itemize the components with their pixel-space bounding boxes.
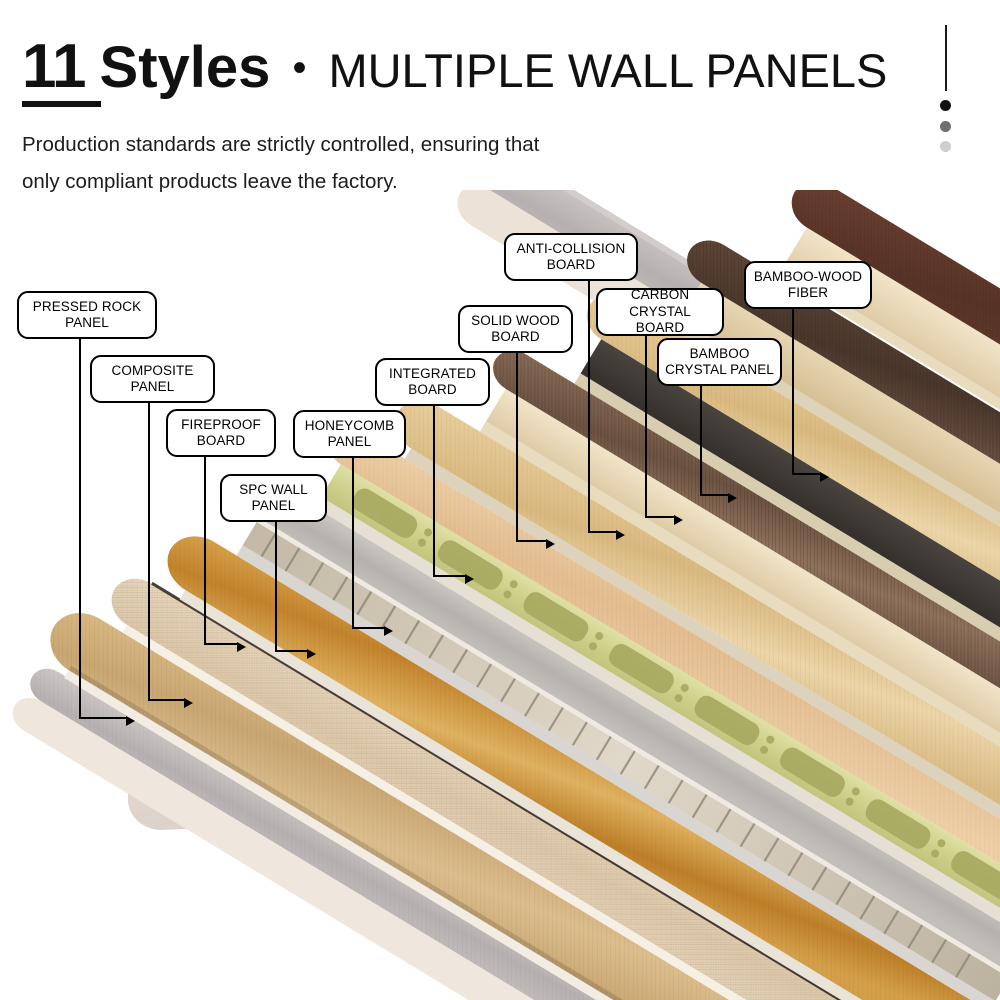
bullet-separator: • xyxy=(292,48,306,88)
arrow-bamboo-wood-fiber xyxy=(820,472,829,482)
callout-text: BAMBOO-WOOD FIBER xyxy=(754,269,862,302)
arrow-honeycomb xyxy=(384,626,393,636)
leader-bamboo-crystal-horizontal xyxy=(700,494,728,496)
header: 11 Styles • MULTIPLE WALL PANELS Product… xyxy=(0,0,1000,215)
leader-spc-vertical xyxy=(275,522,277,652)
leader-carbon-crystal-vertical xyxy=(645,336,647,518)
leader-fireproof-horizontal xyxy=(204,643,237,645)
leader-composite-vertical xyxy=(148,403,150,701)
arrow-integrated xyxy=(465,574,474,584)
callout-text: SPC WALL PANEL xyxy=(239,482,308,515)
arrow-spc xyxy=(307,649,316,659)
callout-composite-panel[interactable]: COMPOSITE PANEL xyxy=(90,355,215,403)
leader-anti-collision-horizontal xyxy=(588,531,616,533)
leader-spc-horizontal xyxy=(275,650,307,652)
callout-text: ANTI-COLLISION BOARD xyxy=(517,241,626,274)
callout-bamboo-crystal-panel[interactable]: BAMBOO CRYSTAL PANEL xyxy=(657,338,782,386)
callout-integrated-board[interactable]: INTEGRATED BOARD xyxy=(375,358,490,406)
callout-text: SOLID WOOD BOARD xyxy=(471,313,560,346)
leader-fireproof-vertical xyxy=(204,457,206,645)
leader-pressed-rock-vertical xyxy=(79,339,81,719)
callout-honeycomb-panel[interactable]: HONEYCOMB PANEL xyxy=(293,410,406,458)
callout-pressed-rock-panel[interactable]: PRESSED ROCK PANEL xyxy=(17,291,157,339)
wall-panel-infographic: 11 Styles • MULTIPLE WALL PANELS Product… xyxy=(0,0,1000,1000)
callout-text: BAMBOO CRYSTAL PANEL xyxy=(665,346,774,379)
leader-composite-horizontal xyxy=(148,699,184,701)
arrow-fireproof xyxy=(237,642,246,652)
callout-text: FIREPROOF BOARD xyxy=(181,417,261,450)
leader-integrated-vertical xyxy=(433,406,435,577)
callout-spc-wall-panel[interactable]: SPC WALL PANEL xyxy=(220,474,327,522)
leader-bamboo-wood-fiber-vertical xyxy=(792,309,794,475)
headline-subtitle: MULTIPLE WALL PANELS xyxy=(328,47,887,94)
leader-bamboo-crystal-vertical xyxy=(700,386,702,496)
arrow-composite xyxy=(184,698,193,708)
arrow-anti-collision xyxy=(616,530,625,540)
description-line-2: only compliant products leave the factor… xyxy=(22,170,398,194)
callout-fireproof-board[interactable]: FIREPROOF BOARD xyxy=(166,409,276,457)
leader-bamboo-wood-fiber-horizontal xyxy=(792,473,820,475)
arrow-solid-wood xyxy=(546,539,555,549)
callout-text: INTEGRATED BOARD xyxy=(389,366,476,399)
callout-anti-collision-board[interactable]: ANTI-COLLISION BOARD xyxy=(504,233,638,281)
leader-carbon-crystal-horizontal xyxy=(645,516,674,518)
style-word: Styles xyxy=(100,39,271,97)
leader-anti-collision-vertical xyxy=(588,281,590,533)
leader-honeycomb-vertical xyxy=(352,458,354,629)
description-line-1: Production standards are strictly contro… xyxy=(22,133,539,157)
callout-text: COMPOSITE PANEL xyxy=(112,363,194,396)
callout-text: HONEYCOMB PANEL xyxy=(305,418,394,451)
headline: 11 Styles • MULTIPLE WALL PANELS xyxy=(22,36,887,98)
leader-integrated-horizontal xyxy=(433,575,465,577)
arrow-pressed-rock xyxy=(126,716,135,726)
leader-solid-wood-vertical xyxy=(516,353,518,542)
indicator-line xyxy=(945,25,947,91)
callout-carbon-crystal-board[interactable]: CARBON CRYSTAL BOARD xyxy=(596,288,724,336)
indicator-dot-1[interactable] xyxy=(940,100,951,111)
leader-honeycomb-horizontal xyxy=(352,627,384,629)
arrow-bamboo-crystal xyxy=(728,493,737,503)
count-underline xyxy=(22,101,101,107)
arrow-carbon-crystal xyxy=(674,515,683,525)
style-count: 11 xyxy=(22,36,86,98)
leader-solid-wood-horizontal xyxy=(516,540,546,542)
callout-bamboo-wood-fiber[interactable]: BAMBOO-WOOD FIBER xyxy=(744,261,872,309)
callout-solid-wood-board[interactable]: SOLID WOOD BOARD xyxy=(458,305,573,353)
indicator-dot-3[interactable] xyxy=(940,141,951,152)
indicator-dot-2[interactable] xyxy=(940,121,951,132)
leader-pressed-rock-horizontal xyxy=(79,717,126,719)
callout-text: CARBON CRYSTAL BOARD xyxy=(604,287,716,336)
callout-text: PRESSED ROCK PANEL xyxy=(33,299,141,332)
